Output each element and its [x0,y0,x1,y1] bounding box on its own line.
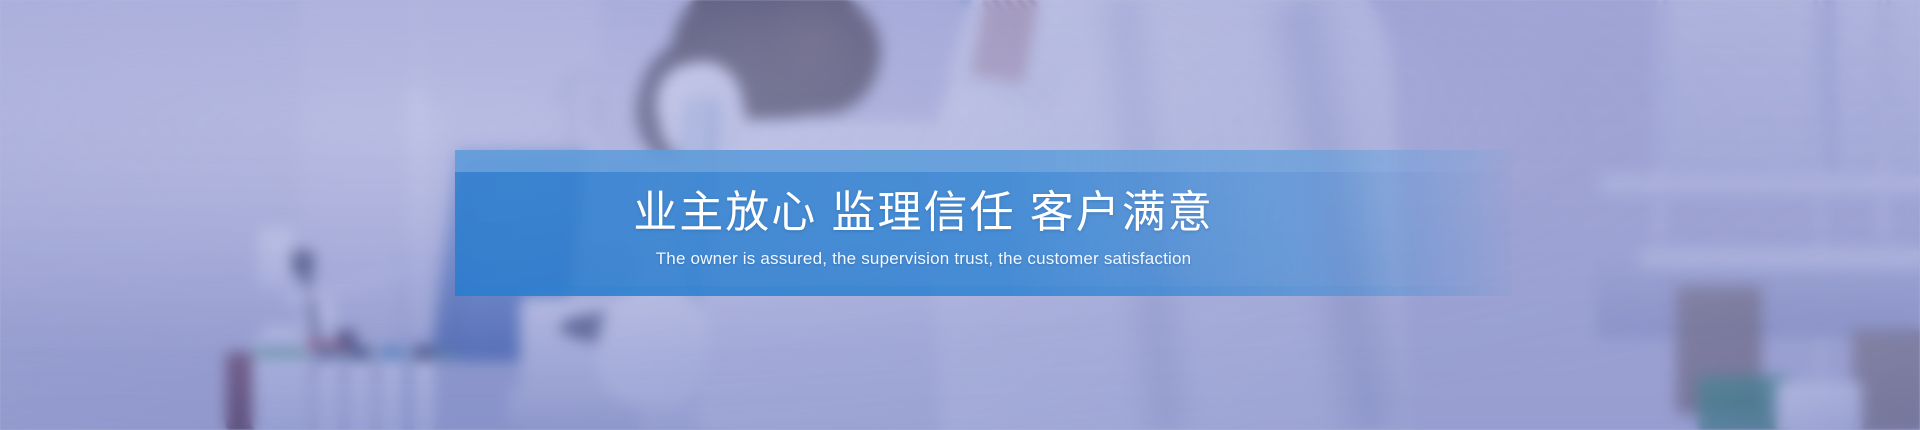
window-mullion [1878,0,1890,240]
sample-vial [382,352,402,430]
sample-vial-cap [382,346,402,360]
window-sill [1600,176,1920,198]
banner-subheadline: The owner is assured, the supervision tr… [656,249,1192,269]
sample-vial [318,352,338,430]
window-mullion [1814,0,1828,420]
window-frame-left [1668,0,1818,170]
hero-banner: 业主放心 监理信任 客户满意 The owner is assured, the… [0,0,1920,430]
window-mullion [1654,0,1666,240]
cardboard-carton [1852,330,1920,430]
wall-outlet-upper [258,228,294,290]
storage-shelf [1640,250,1920,272]
lab-rack [408,88,430,338]
sample-vial-cap [318,346,338,360]
water-bottle-cap [262,326,298,346]
sample-vial-cap [350,346,370,360]
sample-vial [350,352,370,430]
sample-vial [414,352,434,430]
lab-rack-knob [424,92,450,106]
water-bottle-label [254,348,308,357]
banner-headline: 业主放心 监理信任 客户满意 [633,189,1213,237]
banner-text-block: 业主放心 监理信任 客户满意 The owner is assured, the… [455,150,1512,296]
white-supply-box [1776,382,1862,430]
sample-vial-cap [414,346,434,360]
faucet-head-icon [592,90,601,130]
